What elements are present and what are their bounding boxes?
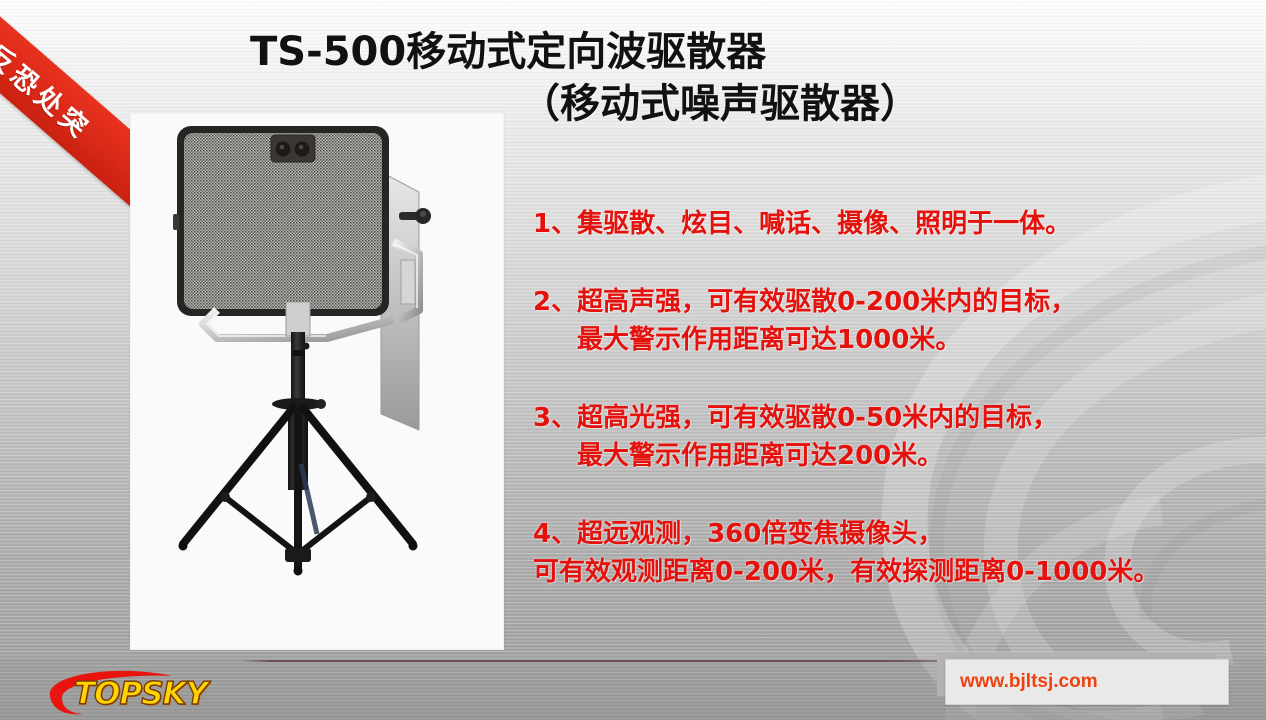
logo-wordmark: TOPSKY <box>74 676 207 712</box>
bullet-3-line-2: 最大警示作用距离可达200米。 <box>533 437 1251 475</box>
footer-divider <box>240 660 980 662</box>
bullet-4-line-2: 可有效观测距离0-200米，有效探测距离0-1000米。 <box>533 553 1251 591</box>
camera-module-icon <box>271 135 315 162</box>
url-plaque[interactable]: www.bjltsj.com <box>945 659 1229 705</box>
bullet-4-line-1: 4、超远观测，360倍变焦摄像头， <box>533 515 1251 553</box>
list-item: 1、集驱散、炫目、喊话、摄像、照明于一体。 <box>533 205 1251 243</box>
bullet-1-line-1: 1、集驱散、炫目、喊话、摄像、照明于一体。 <box>533 205 1251 243</box>
bullet-2-line-1: 2、超高声强，可有效驱散0-200米内的目标， <box>533 283 1251 321</box>
list-item: 4、超远观测，360倍变焦摄像头， 可有效观测距离0-200米，有效探测距离0-… <box>533 515 1251 591</box>
slide-canvas: 反恐处突 TS-500移动式定向波驱散器 （移动式噪声驱散器） <box>0 0 1266 720</box>
bullet-2-line-2: 最大警示作用距离可达1000米。 <box>533 321 1251 359</box>
list-item: 2、超高声强，可有效驱散0-200米内的目标， 最大警示作用距离可达1000米。 <box>533 283 1251 359</box>
title-line-1: TS-500移动式定向波驱散器 <box>250 26 1080 78</box>
list-item: 3、超高光强，可有效驱散0-50米内的目标， 最大警示作用距离可达200米。 <box>533 399 1251 475</box>
website-url[interactable]: www.bjltsj.com <box>960 671 1098 693</box>
yoke-plate <box>401 260 415 304</box>
feature-list: 1、集驱散、炫目、喊话、摄像、照明于一体。 2、超高声强，可有效驱散0-200米… <box>533 205 1251 631</box>
ribbon-label: 反恐处突 <box>0 34 102 147</box>
panel-side-nub <box>173 214 179 230</box>
topsky-logo: TOPSKY <box>22 666 237 716</box>
mount-block <box>286 302 310 336</box>
product-photo <box>130 113 504 650</box>
bullet-3-line-1: 3、超高光强，可有效驱散0-50米内的目标， <box>533 399 1251 437</box>
